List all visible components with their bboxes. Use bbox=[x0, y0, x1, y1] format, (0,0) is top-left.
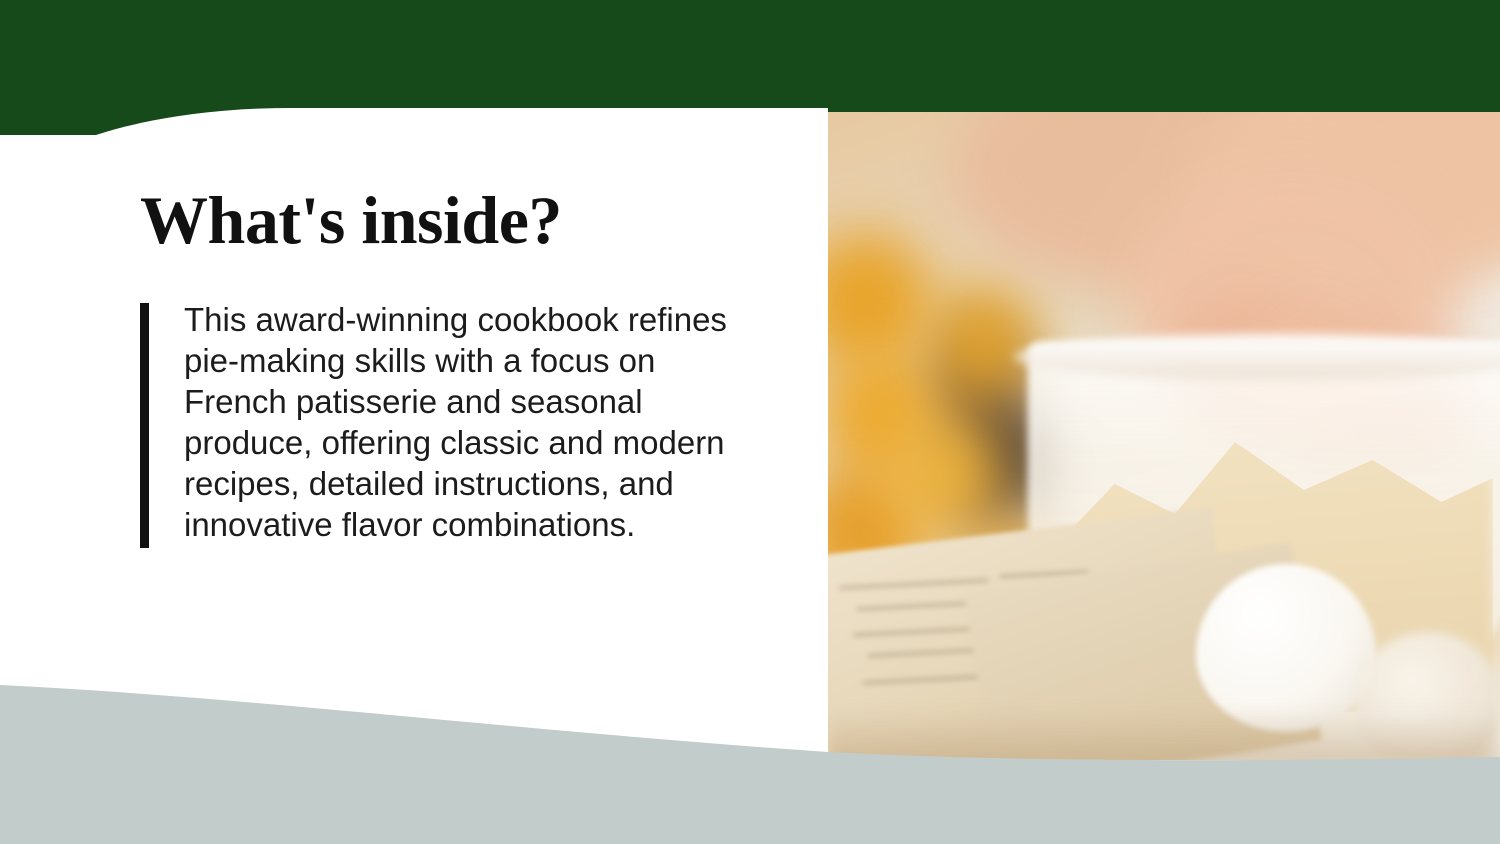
accent-bar bbox=[140, 303, 149, 548]
body-paragraph: This award-winning cookbook refines pie-… bbox=[184, 299, 729, 545]
slide-canvas: What's inside? This award-winning cookbo… bbox=[0, 0, 1500, 844]
body-block: This award-winning cookbook refines pie-… bbox=[140, 299, 760, 545]
kitchen-photo bbox=[828, 112, 1500, 760]
photo-amber-d bbox=[883, 412, 1003, 537]
photo-amber-e bbox=[928, 282, 1038, 402]
photo-egg bbox=[1196, 564, 1376, 732]
slide-content: What's inside? This award-winning cookbo… bbox=[140, 186, 760, 545]
page-title: What's inside? bbox=[140, 186, 760, 255]
photo-base-gradient bbox=[828, 710, 1500, 760]
